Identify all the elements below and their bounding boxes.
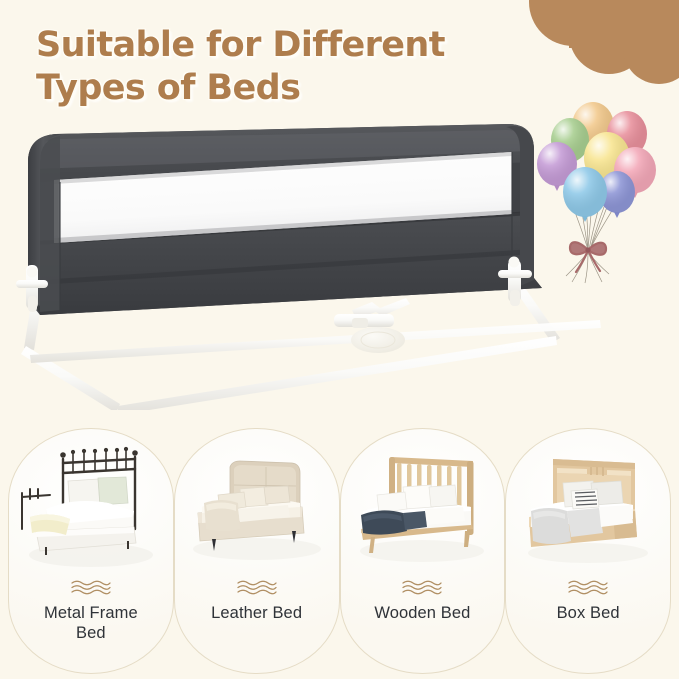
wooden-bed-photo: [347, 437, 497, 577]
bed-card-metal-frame[interactable]: Metal Frame Bed: [8, 428, 174, 674]
bed-types-card-row: Metal Frame Bed: [0, 428, 679, 676]
bed-card-label-line-1: Leather Bed: [211, 604, 302, 622]
wave-divider-icon: [401, 579, 443, 596]
wave-divider-icon: [70, 579, 112, 596]
metal-frame-bed-photo: [16, 437, 166, 577]
page-title: Suitable for Different Types of Beds: [36, 24, 536, 109]
bed-card-label-line-1: Wooden Bed: [374, 604, 470, 622]
wave-divider-icon: [567, 579, 609, 596]
bed-card-label: Wooden Bed: [352, 603, 492, 623]
bed-card-label-line-1: Box Bed: [557, 604, 620, 622]
bed-card-leather[interactable]: Leather Bed: [174, 428, 340, 674]
bed-card-wooden[interactable]: Wooden Bed: [340, 428, 506, 674]
infographic-canvas: Suitable for Different Types of Beds: [0, 0, 679, 679]
bed-card-label: Box Bed: [518, 603, 658, 623]
leather-bed-photo: [182, 437, 332, 577]
foot-pad: [351, 327, 405, 353]
bed-card-box[interactable]: Box Bed: [505, 428, 671, 674]
bed-card-label-line-1: Metal Frame: [44, 604, 138, 622]
bed-card-label-line-2: Bed: [76, 624, 106, 642]
bed-card-label: Metal Frame Bed: [21, 603, 161, 643]
title-line-1: Suitable for Different: [36, 24, 536, 67]
center-bracket: [334, 298, 410, 328]
rail-panel: [28, 124, 542, 315]
bed-card-label: Leather Bed: [187, 603, 327, 623]
box-bed-photo: [513, 437, 663, 577]
wave-divider-icon: [236, 579, 278, 596]
title-line-2: Types of Beds: [36, 67, 536, 110]
bed-rail-product-image: [0, 110, 640, 410]
